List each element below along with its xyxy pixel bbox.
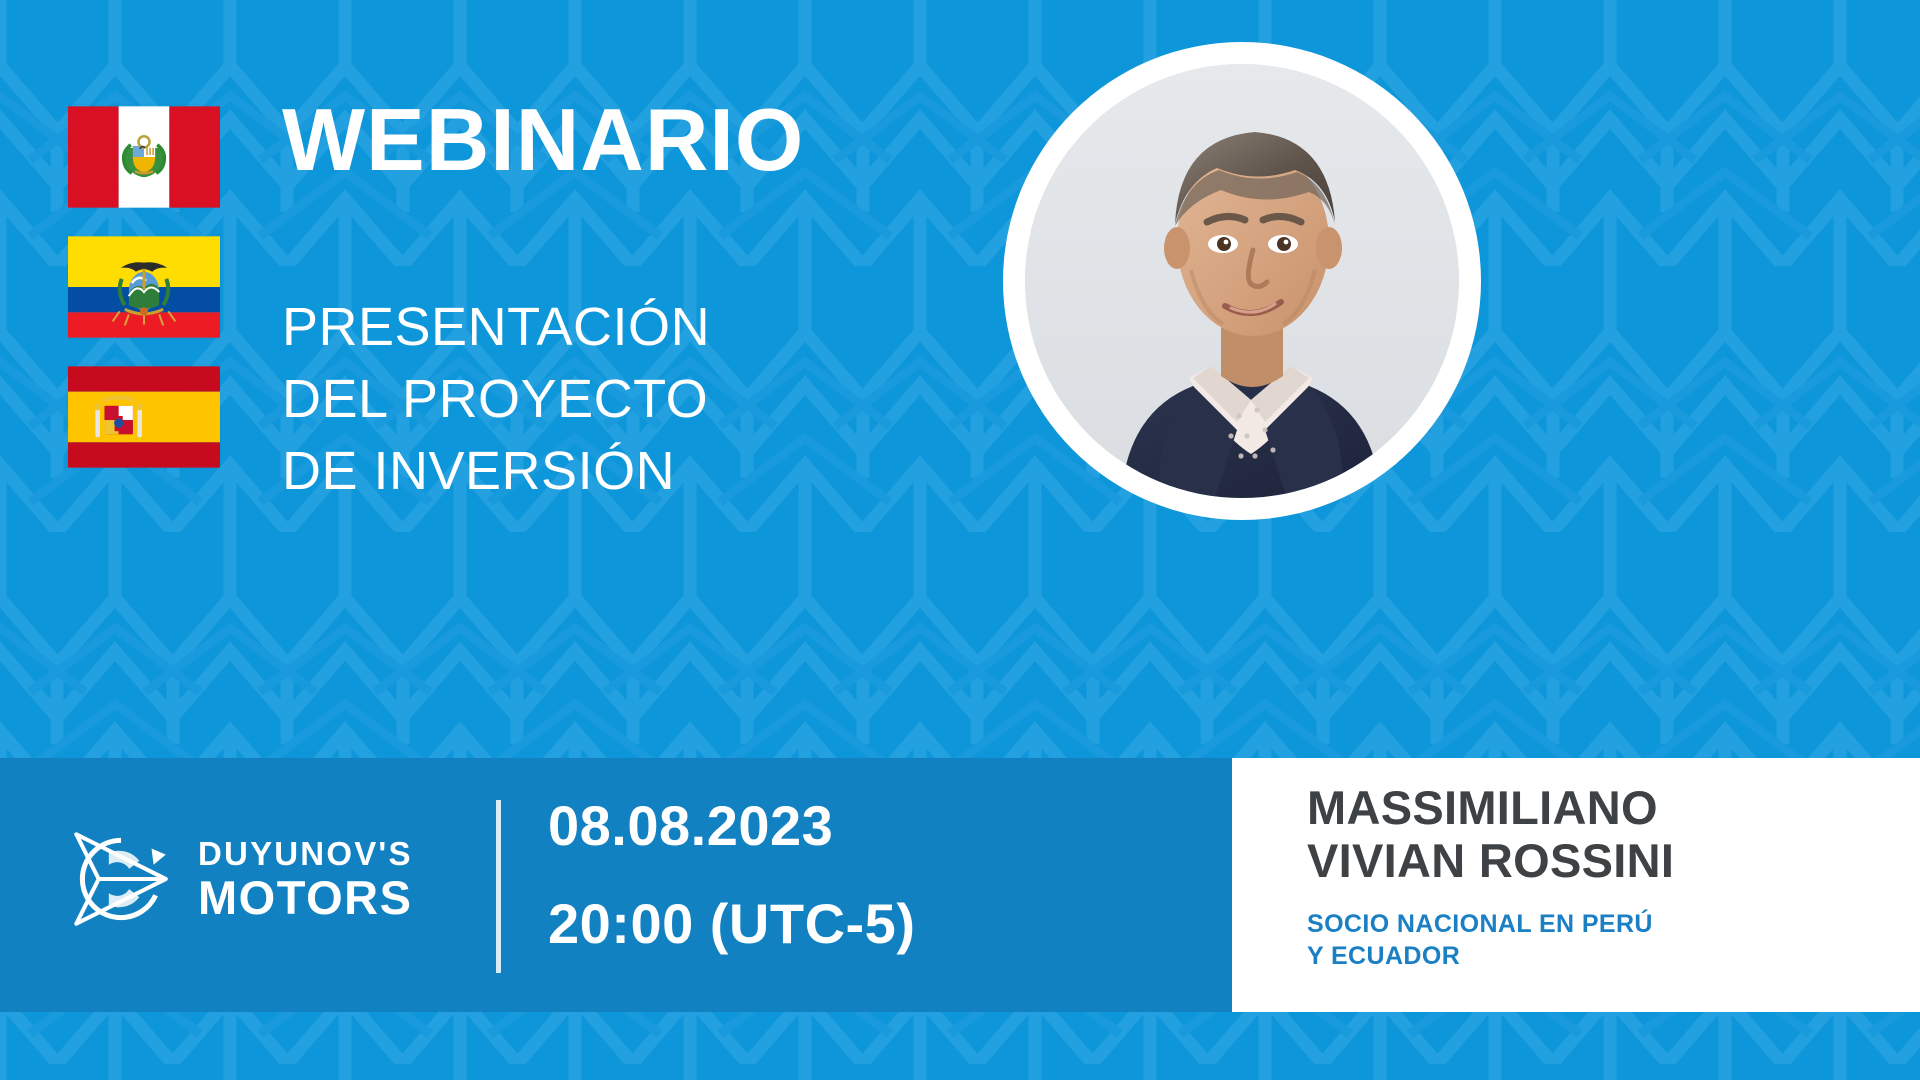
speaker-name-line-2: VIVIAN ROSSINI <box>1307 835 1674 888</box>
duyunov-circular-arrow-logo-icon <box>58 818 180 940</box>
subtitle-line-2: DEL PROYECTO <box>282 364 922 436</box>
peru-flag <box>68 105 220 209</box>
page-title: WEBINARIO <box>282 96 922 184</box>
speaker-role: SOCIO NACIONAL EN PERÚ Y ECUADOR <box>1307 908 1653 972</box>
subtitle: PRESENTACIÓN DEL PROYECTO DE INVERSIÓN <box>282 292 922 507</box>
avatar <box>1025 64 1459 498</box>
speaker-name: MASSIMILIANO VIVIAN ROSSINI <box>1307 782 1674 887</box>
event-time: 20:00 (UTC-5) <box>548 896 915 952</box>
speaker-role-line-1: SOCIO NACIONAL EN PERÚ <box>1307 908 1653 940</box>
speaker-portrait-ring <box>1003 42 1481 520</box>
vertical-divider <box>496 800 501 973</box>
speaker-role-line-2: Y ECUADOR <box>1307 940 1653 972</box>
subtitle-line-3: DE INVERSIÓN <box>282 436 922 508</box>
speaker-name-line-1: MASSIMILIANO <box>1307 782 1674 835</box>
event-date: 08.08.2023 <box>548 798 915 854</box>
brand-logo[interactable]: DUYUNOV'S MOTORS <box>58 818 413 940</box>
webinar-banner: WEBINARIO PRESENTACIÓN DEL PROYECTO DE I… <box>0 0 1920 1080</box>
headline-block: WEBINARIO PRESENTACIÓN DEL PROYECTO DE I… <box>282 96 922 507</box>
brand-wordmark: DUYUNOV'S MOTORS <box>198 837 413 921</box>
event-datetime: 08.08.2023 20:00 (UTC-5) <box>548 798 915 952</box>
brand-line-2: MOTORS <box>198 874 413 921</box>
subtitle-line-1: PRESENTACIÓN <box>282 292 922 364</box>
speaker-panel: MASSIMILIANO VIVIAN ROSSINI SOCIO NACION… <box>1232 758 1920 1012</box>
flags-column <box>68 105 220 469</box>
portrait-photo <box>1025 64 1459 498</box>
spain-flag <box>68 365 220 469</box>
ecuador-flag <box>68 235 220 339</box>
brand-line-1: DUYUNOV'S <box>198 837 413 870</box>
